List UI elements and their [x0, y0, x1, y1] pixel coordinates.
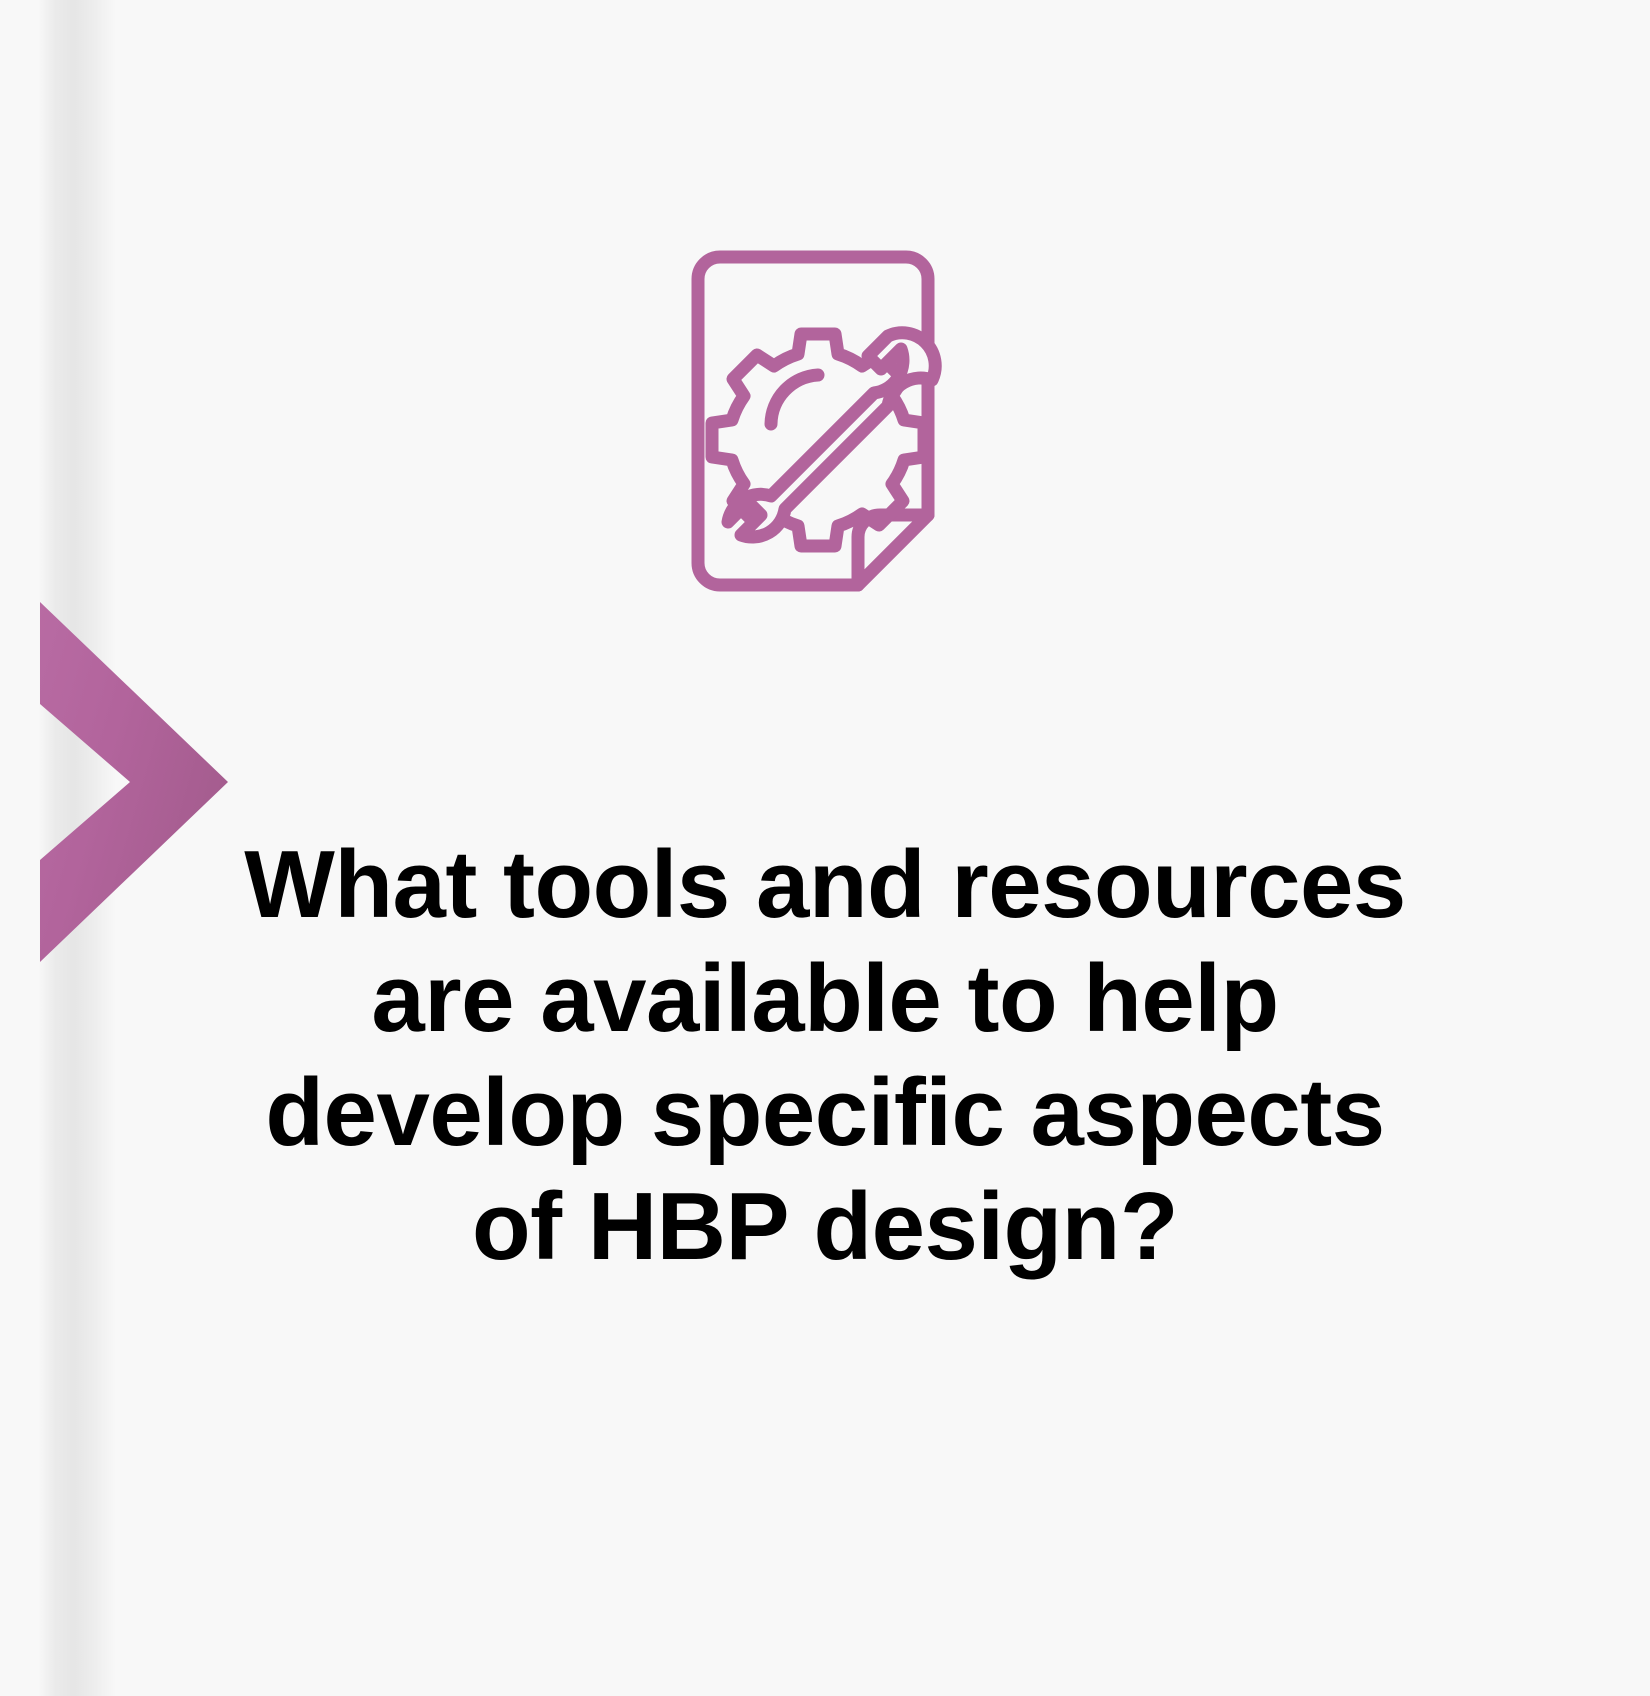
- tools-document-glyph: [668, 243, 958, 603]
- title-line-1: What tools and resources: [150, 828, 1500, 942]
- document-with-gear-and-wrench-icon: [668, 243, 958, 603]
- slide-canvas: What tools and resources are available t…: [0, 0, 1650, 1696]
- gear-inner-arc-upper: [771, 375, 818, 424]
- page-title: What tools and resources are available t…: [150, 828, 1500, 1284]
- title-line-2: are available to help: [150, 942, 1500, 1056]
- title-line-4: of HBP design?: [150, 1170, 1500, 1284]
- title-line-3: develop specific aspects: [150, 1056, 1500, 1170]
